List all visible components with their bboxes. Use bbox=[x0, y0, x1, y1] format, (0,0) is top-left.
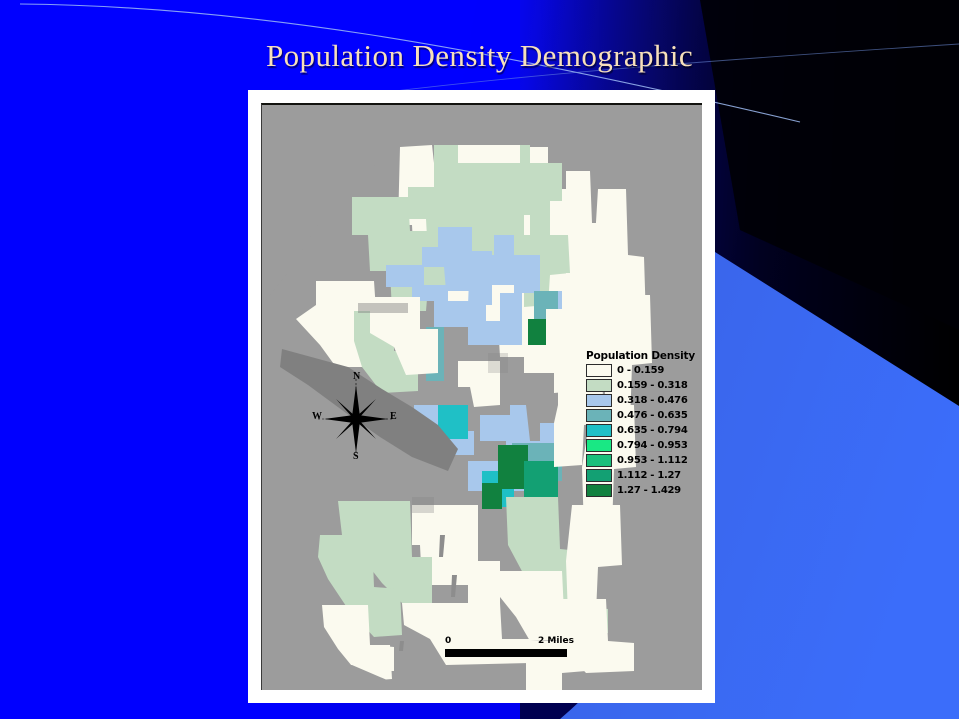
legend-swatch bbox=[586, 484, 612, 497]
legend-label: 0.635 - 0.794 bbox=[617, 425, 687, 436]
legend-label: 0 - 0.159 bbox=[617, 365, 664, 376]
map-scalebar: 0 2 Miles bbox=[445, 636, 595, 657]
legend-label: 1.112 - 1.27 bbox=[617, 470, 681, 481]
legend-title: Population Density bbox=[586, 350, 702, 362]
map-canvas: Population Density 0 - 0.159 0.159 - 0.3… bbox=[261, 103, 702, 690]
legend-item[interactable]: 0.159 - 0.318 bbox=[586, 378, 702, 393]
legend-label: 0.953 - 1.112 bbox=[617, 455, 687, 466]
compass-label-east: E bbox=[390, 411, 397, 422]
legend-swatch bbox=[586, 454, 612, 467]
map-legend: Population Density 0 - 0.159 0.159 - 0.3… bbox=[586, 350, 702, 498]
scalebar-bar bbox=[445, 649, 567, 657]
compass-label-south: S bbox=[353, 451, 359, 462]
map-picture-frame: Population Density 0 - 0.159 0.159 - 0.3… bbox=[248, 90, 715, 703]
legend-swatch bbox=[586, 364, 612, 377]
legend-label: 1.27 - 1.429 bbox=[617, 485, 681, 496]
scalebar-start-label: 0 bbox=[445, 636, 451, 646]
scalebar-labels: 0 2 Miles bbox=[445, 636, 595, 649]
legend-item[interactable]: 0.318 - 0.476 bbox=[586, 393, 702, 408]
legend-label: 0.159 - 0.318 bbox=[617, 380, 687, 391]
legend-item[interactable]: 0 - 0.159 bbox=[586, 363, 702, 378]
legend-swatch bbox=[586, 409, 612, 422]
legend-item[interactable]: 1.27 - 1.429 bbox=[586, 483, 702, 498]
legend-item[interactable]: 0.635 - 0.794 bbox=[586, 423, 702, 438]
legend-item[interactable]: 0.476 - 0.635 bbox=[586, 408, 702, 423]
page-title: Population Density Demographic bbox=[0, 38, 959, 74]
legend-label: 0.476 - 0.635 bbox=[617, 410, 687, 421]
legend-item[interactable]: 0.953 - 1.112 bbox=[586, 453, 702, 468]
legend-item[interactable]: 0.794 - 0.953 bbox=[586, 438, 702, 453]
legend-swatch bbox=[586, 439, 612, 452]
legend-swatch bbox=[586, 424, 612, 437]
legend-item[interactable]: 1.112 - 1.27 bbox=[586, 468, 702, 483]
legend-swatch bbox=[586, 394, 612, 407]
compass-rose: N S E W bbox=[310, 373, 402, 465]
legend-label: 0.318 - 0.476 bbox=[617, 395, 687, 406]
presentation-slide: Population Density Demographic bbox=[0, 0, 959, 719]
legend-swatch bbox=[586, 379, 612, 392]
scalebar-end-label: 2 Miles bbox=[538, 636, 574, 646]
legend-swatch bbox=[586, 469, 612, 482]
compass-label-north: N bbox=[353, 371, 360, 382]
compass-label-west: W bbox=[312, 411, 322, 422]
legend-label: 0.794 - 0.953 bbox=[617, 440, 687, 451]
